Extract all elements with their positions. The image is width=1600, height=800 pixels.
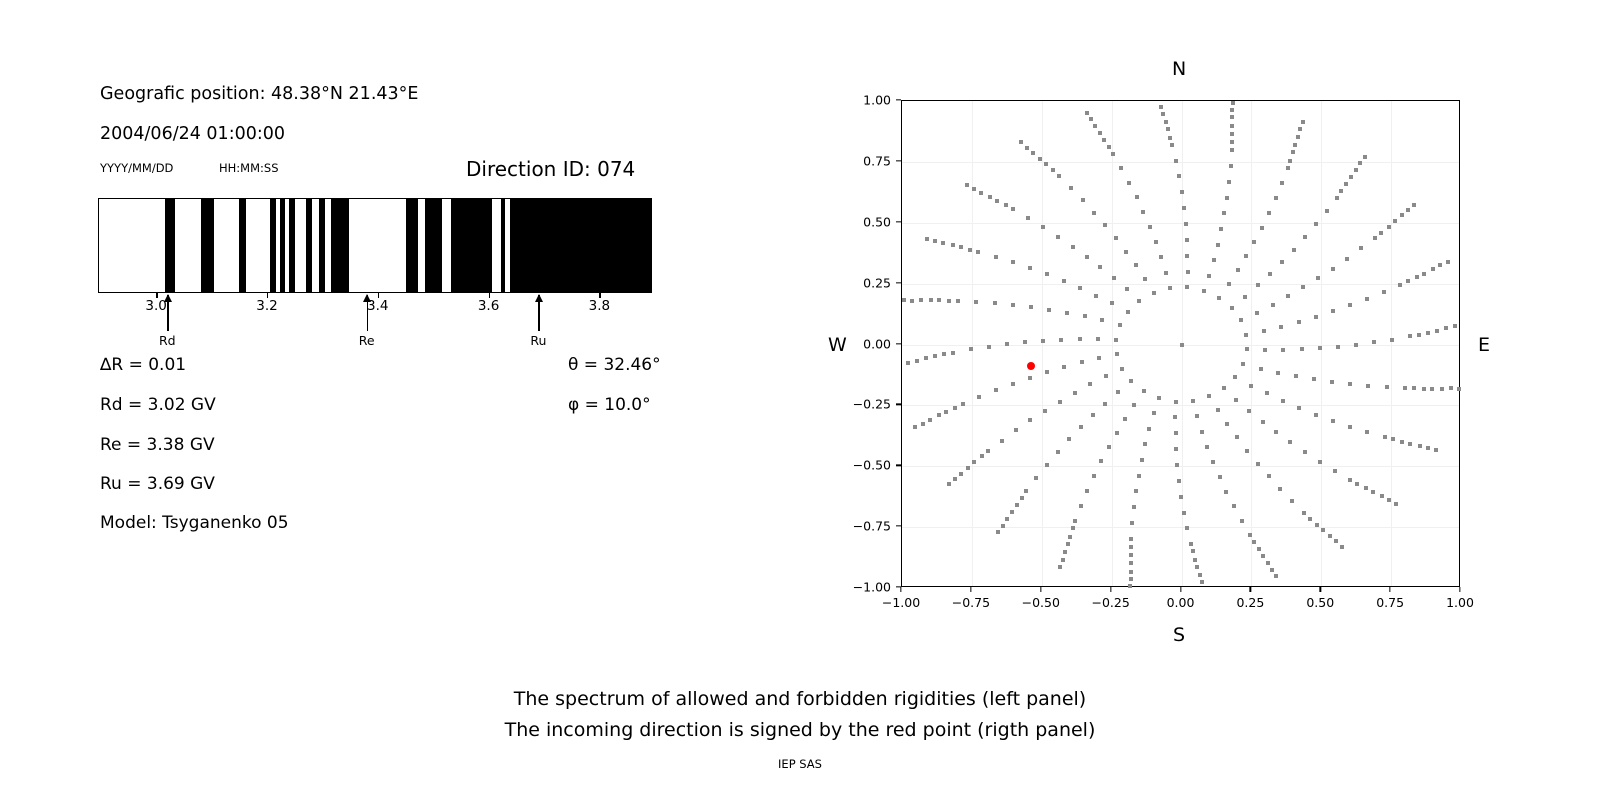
- direction-sample-point: [915, 359, 919, 363]
- direction-sample-point: [1225, 422, 1229, 426]
- direction-sample-point: [1274, 574, 1278, 578]
- direction-sample-point: [1099, 459, 1103, 463]
- gridline-vertical: [1391, 101, 1392, 586]
- direction-sample-point: [1431, 267, 1435, 271]
- direction-sample-point: [1111, 152, 1115, 156]
- direction-sample-point: [1115, 352, 1119, 356]
- direction-sample-point: [1379, 231, 1383, 235]
- direction-sample-point: [1440, 387, 1444, 391]
- direction-sample-point: [1434, 448, 1438, 452]
- direction-sample-point: [1175, 463, 1179, 467]
- direction-sample-point: [977, 395, 981, 399]
- direction-sample-point: [1400, 440, 1404, 444]
- direction-sample-point: [1093, 124, 1097, 128]
- direction-sample-point: [1241, 362, 1245, 366]
- direction-sample-point: [1129, 379, 1133, 383]
- direction-sample-point: [1430, 387, 1434, 391]
- direction-sample-point: [1268, 272, 1272, 276]
- direction-sample-point: [1129, 577, 1133, 581]
- direction-sample-point: [1348, 478, 1352, 482]
- direction-sample-point: [1127, 181, 1131, 185]
- direction-sample-point: [1011, 260, 1015, 264]
- direction-sample-point: [1080, 360, 1084, 364]
- direction-sample-point: [1453, 324, 1457, 328]
- x-axis-tick-mark: [1320, 587, 1321, 592]
- direction-sample-point: [1189, 542, 1193, 546]
- direction-sample-point: [1014, 428, 1018, 432]
- direction-sample-point: [1279, 325, 1283, 329]
- direction-sample-point: [1128, 584, 1132, 588]
- caption-line-1: The spectrum of allowed and forbidden ri…: [0, 688, 1600, 710]
- direction-sample-point: [1143, 442, 1147, 446]
- direction-sample-point: [1043, 409, 1047, 413]
- direction-sample-point: [1110, 301, 1114, 305]
- direction-sample-point: [1385, 385, 1389, 389]
- direction-sample-point: [1293, 143, 1297, 147]
- direction-sample-point: [1058, 565, 1062, 569]
- direction-sample-point: [1406, 208, 1410, 212]
- direction-sample-point: [1280, 181, 1284, 185]
- x-axis-tick-mark: [1250, 587, 1251, 592]
- direction-sample-point: [1132, 403, 1136, 407]
- direction-sample-point: [1412, 386, 1416, 390]
- direction-sample-point: [1308, 517, 1312, 521]
- direction-sample-point: [1365, 297, 1369, 301]
- direction-sample-point: [1103, 402, 1107, 406]
- direction-sample-point: [1056, 235, 1060, 239]
- gridline-horizontal: [902, 527, 1459, 528]
- direction-sample-point: [1303, 235, 1307, 239]
- direction-sample-point: [1091, 413, 1095, 417]
- y-axis-tick-mark: [896, 221, 901, 222]
- direction-sample-point: [980, 454, 984, 458]
- direction-sample-point: [1034, 476, 1038, 480]
- direction-sample-point: [1274, 196, 1278, 200]
- direction-sample-point: [1403, 386, 1407, 390]
- direction-sample-point: [1107, 445, 1111, 449]
- direction-sample-point: [1412, 203, 1416, 207]
- direction-sample-point: [1028, 418, 1032, 422]
- direction-sample-point: [1422, 272, 1426, 276]
- direction-sample-point: [1417, 333, 1421, 337]
- direction-sample-point: [1298, 127, 1302, 131]
- direction-sample-point: [924, 356, 928, 360]
- direction-sample-point: [1286, 294, 1290, 298]
- direction-sample-point: [1219, 227, 1223, 231]
- y-axis-tick-mark: [896, 525, 901, 526]
- y-axis-tick-label: −0.25: [839, 397, 891, 412]
- direction-sample-point: [966, 466, 970, 470]
- direction-sample-point: [959, 245, 963, 249]
- direction-sample-point: [1230, 115, 1234, 119]
- direction-sample-point: [1234, 398, 1238, 402]
- direction-sample-point: [1059, 338, 1063, 342]
- direction-sample-point: [1262, 329, 1266, 333]
- direction-sample-point: [1371, 490, 1375, 494]
- direction-sample-point: [1152, 411, 1156, 415]
- direction-sample-point: [1354, 168, 1358, 172]
- direction-sample-point: [947, 299, 951, 303]
- direction-sample-point: [1107, 145, 1111, 149]
- footer-credit: IEP SAS: [0, 757, 1600, 771]
- direction-sample-point: [1315, 523, 1319, 527]
- direction-sample-point: [1344, 182, 1348, 186]
- direction-sample-point: [1038, 157, 1042, 161]
- direction-sample-point: [1325, 209, 1329, 213]
- direction-sample-point: [1026, 216, 1030, 220]
- direction-sample-point: [1195, 565, 1199, 569]
- direction-sample-point: [1173, 415, 1177, 419]
- direction-sample-point: [1321, 528, 1325, 532]
- direction-sample-point: [1449, 386, 1453, 390]
- direction-sample-point: [1229, 164, 1233, 168]
- direction-sample-point: [1257, 547, 1261, 551]
- direction-sample-point: [1092, 211, 1096, 215]
- direction-sample-point: [1271, 303, 1275, 307]
- direction-sample-point: [1256, 283, 1260, 287]
- direction-sample-point: [1073, 391, 1077, 395]
- direction-sample-point: [1120, 367, 1124, 371]
- direction-sample-point: [1098, 265, 1102, 269]
- direction-sample-point: [1066, 542, 1070, 546]
- gridline-horizontal: [902, 162, 1459, 163]
- direction-sample-point: [1314, 222, 1318, 226]
- direction-sample-point: [1081, 198, 1085, 202]
- direction-sample-point: [1182, 511, 1186, 515]
- direction-sample-point: [987, 345, 991, 349]
- direction-sample-point: [1029, 305, 1033, 309]
- direction-sample-point: [965, 183, 969, 187]
- direction-sample-point: [1025, 146, 1029, 150]
- direction-sample-point: [1230, 124, 1234, 128]
- direction-sample-point: [1174, 400, 1178, 404]
- direction-sample-point: [1387, 498, 1391, 502]
- direction-sample-point: [902, 298, 906, 302]
- direction-sample-point: [1134, 489, 1138, 493]
- direction-sample-point: [1314, 315, 1318, 319]
- direction-sample-point: [1348, 425, 1352, 429]
- direction-sample-point: [1129, 561, 1133, 565]
- direction-sample-point: [1245, 449, 1249, 453]
- direction-sample-point: [1355, 482, 1359, 486]
- direction-sample-point: [1079, 425, 1083, 429]
- direction-sample-point: [1331, 267, 1335, 271]
- x-axis-tick-mark: [1180, 587, 1181, 592]
- compass-north-label: N: [1172, 58, 1186, 80]
- direction-sample-point: [1062, 365, 1066, 369]
- direction-sample-point: [1177, 174, 1181, 178]
- direction-sample-point: [1045, 272, 1049, 276]
- direction-sample-point: [988, 195, 992, 199]
- direction-sample-point: [1068, 535, 1072, 539]
- direction-sample-point: [1140, 458, 1144, 462]
- compass-south-label: S: [1173, 624, 1185, 646]
- direction-sample-point: [1243, 295, 1247, 299]
- direction-sample-point: [1263, 348, 1267, 352]
- direction-sample-point: [1005, 342, 1009, 346]
- direction-sample-point: [1391, 437, 1395, 441]
- direction-sample-point: [1174, 159, 1178, 163]
- direction-sample-point: [1249, 384, 1253, 388]
- direction-sample-point: [1222, 386, 1226, 390]
- direction-sample-point: [951, 243, 955, 247]
- direction-sample-point: [1446, 260, 1450, 264]
- direction-sample-point: [1408, 442, 1412, 446]
- direction-sample-point: [1224, 490, 1228, 494]
- direction-sample-point: [1011, 207, 1015, 211]
- direction-sample-point: [1058, 400, 1062, 404]
- direction-sample-point: [1400, 213, 1404, 217]
- direction-sample-point: [1248, 533, 1252, 537]
- direction-sample-point: [1159, 105, 1163, 109]
- direction-sample-point: [1062, 279, 1066, 283]
- direction-sample-point: [1288, 159, 1292, 163]
- direction-sample-point: [1069, 186, 1073, 190]
- direction-sample-point: [1164, 120, 1168, 124]
- direction-sample-point: [1239, 318, 1243, 322]
- direction-sample-point: [1280, 260, 1284, 264]
- direction-sample-point: [1278, 487, 1282, 491]
- direction-sample-point: [1104, 374, 1108, 378]
- gridline-vertical: [1112, 101, 1113, 586]
- direction-sample-point: [1148, 225, 1152, 229]
- direction-sample-point: [1290, 499, 1294, 503]
- direction-sample-point: [994, 255, 998, 259]
- direction-sample-point: [1118, 323, 1122, 327]
- direction-sample-point: [1100, 318, 1104, 322]
- direction-sample-point: [1276, 371, 1280, 375]
- y-axis-tick-label: 0.25: [839, 275, 891, 290]
- x-axis-tick-label: 0.50: [1306, 595, 1334, 610]
- direction-sample-point: [1137, 299, 1141, 303]
- x-axis-tick-label: −0.25: [1091, 595, 1129, 610]
- direction-sample-point: [1302, 511, 1306, 515]
- direction-sample-point: [1333, 469, 1337, 473]
- direction-sample-point: [1318, 346, 1322, 350]
- direction-sample-point: [1291, 150, 1295, 154]
- direction-sample-point: [1382, 290, 1386, 294]
- direction-sample-point: [1041, 225, 1045, 229]
- direction-sample-point: [1083, 314, 1087, 318]
- direction-sample-point: [1019, 140, 1023, 144]
- direction-sample-point: [1364, 486, 1368, 490]
- direction-sample-point: [1235, 435, 1239, 439]
- x-axis-tick-label: −1.00: [882, 595, 920, 610]
- direction-sample-point: [1102, 138, 1106, 142]
- direction-sample-point: [1406, 279, 1410, 283]
- direction-sample-point: [1267, 474, 1271, 478]
- direction-sample-point: [1348, 303, 1352, 307]
- direction-sample-point: [972, 460, 976, 464]
- direction-sample-point: [1286, 166, 1290, 170]
- y-axis-tick-label: −0.50: [839, 458, 891, 473]
- direction-sample-point: [1233, 375, 1237, 379]
- direction-sample-point: [959, 472, 963, 476]
- direction-sample-point: [1047, 308, 1051, 312]
- gridline-horizontal: [902, 405, 1459, 406]
- direction-sample-point: [1426, 446, 1430, 450]
- direction-sample-point: [1345, 257, 1349, 261]
- direction-sample-point: [1245, 347, 1249, 351]
- direction-sample-point: [1141, 210, 1145, 214]
- direction-sample-point: [1212, 258, 1216, 262]
- direction-sample-point: [1301, 285, 1305, 289]
- x-axis-tick-mark: [970, 587, 971, 592]
- direction-sample-point: [1185, 238, 1189, 242]
- direction-sample-point: [1218, 475, 1222, 479]
- direction-sample-point: [1089, 117, 1093, 121]
- direction-sample-point: [1390, 338, 1394, 342]
- direction-sample-point: [1200, 580, 1204, 584]
- direction-sample-point: [1211, 460, 1215, 464]
- direction-sample-point: [1114, 236, 1118, 240]
- direction-sample-point: [974, 300, 978, 304]
- gridline-vertical: [1321, 101, 1322, 586]
- direction-sample-point: [1457, 387, 1461, 391]
- direction-sample-point: [1216, 243, 1220, 247]
- y-axis-tick-label: −1.00: [839, 580, 891, 595]
- gridline-vertical: [1042, 101, 1043, 586]
- direction-sample-point: [1256, 462, 1260, 466]
- direction-sample-point: [1051, 168, 1055, 172]
- direction-sample-point: [972, 187, 976, 191]
- direction-sample-point: [921, 422, 925, 426]
- direction-sample-point: [1057, 174, 1061, 178]
- direction-sample-point: [1094, 294, 1098, 298]
- direction-sample-point: [1170, 143, 1174, 147]
- direction-sample-point: [1179, 495, 1183, 499]
- direction-sample-point: [910, 299, 914, 303]
- direction-sample-point: [1198, 573, 1202, 577]
- x-axis-tick-label: 1.00: [1446, 595, 1474, 610]
- direction-sample-point: [1071, 245, 1075, 249]
- direction-sample-point: [996, 530, 1000, 534]
- direction-sample-point: [1354, 343, 1358, 347]
- direction-sample-point: [1336, 345, 1340, 349]
- direction-sample-point: [1123, 417, 1127, 421]
- x-axis-tick-mark: [900, 587, 901, 592]
- direction-sample-point: [1349, 175, 1353, 179]
- gridline-horizontal: [902, 223, 1459, 224]
- direction-sample-point: [969, 347, 973, 351]
- x-axis-tick-mark: [1040, 587, 1041, 592]
- direction-sample-point: [968, 248, 972, 252]
- direction-sample-point: [1157, 396, 1161, 400]
- direction-sample-point: [986, 449, 990, 453]
- direction-sample-point: [953, 406, 957, 410]
- direction-sample-point: [1174, 431, 1178, 435]
- direction-sample-point: [1096, 337, 1100, 341]
- direction-sample-point: [951, 351, 955, 355]
- direction-sample-point: [1231, 101, 1235, 105]
- direction-sample-point: [1159, 255, 1163, 259]
- direction-sample-point: [1335, 196, 1339, 200]
- direction-sample-point: [1000, 439, 1004, 443]
- y-axis-tick-label: 0.75: [839, 153, 891, 168]
- direction-sample-point: [1438, 263, 1442, 267]
- direction-sample-point: [1207, 394, 1211, 398]
- direction-sample-point: [1130, 521, 1134, 525]
- direction-sample-point: [1252, 240, 1256, 244]
- direction-sample-point: [1103, 223, 1107, 227]
- direction-sample-point: [1132, 505, 1136, 509]
- direction-sample-point: [1240, 519, 1244, 523]
- direction-sample-point: [1191, 549, 1195, 553]
- direction-sample-point: [1200, 430, 1204, 434]
- direction-sample-point: [1330, 380, 1334, 384]
- direction-sample-point: [913, 425, 917, 429]
- incoming-direction-point: [1027, 362, 1035, 370]
- y-axis-tick-label: 1.00: [839, 93, 891, 108]
- direction-sample-point: [1020, 496, 1024, 500]
- direction-sample-point: [1303, 450, 1307, 454]
- direction-sample-point: [1301, 120, 1305, 124]
- direction-sample-point: [1065, 311, 1069, 315]
- direction-sample-point: [1119, 166, 1123, 170]
- direction-sample-point: [947, 482, 951, 486]
- direction-sample-point: [933, 354, 937, 358]
- direction-sample-point: [1331, 309, 1335, 313]
- direction-sample-point: [1098, 131, 1102, 135]
- direction-sample-point: [1193, 558, 1197, 562]
- direction-sample-point: [1328, 534, 1332, 538]
- direction-sample-point: [1142, 389, 1146, 393]
- direction-sample-point: [1259, 367, 1263, 371]
- y-axis-tick-mark: [896, 282, 901, 283]
- direction-sample-point: [1435, 329, 1439, 333]
- direction-sample-point: [1422, 387, 1426, 391]
- direction-sample-point: [919, 298, 923, 302]
- direction-sample-point: [1031, 151, 1035, 155]
- direction-sample-point: [1225, 196, 1229, 200]
- direction-sample-point: [1444, 326, 1448, 330]
- direction-sample-point: [1125, 287, 1129, 291]
- direction-sample-point: [1236, 268, 1240, 272]
- direction-sample-point: [1195, 414, 1199, 418]
- direction-sample-point: [1143, 277, 1147, 281]
- x-axis-tick-label: 0.00: [1167, 595, 1195, 610]
- y-axis-tick-label: 0.00: [839, 336, 891, 351]
- direction-sample-point: [1270, 568, 1274, 572]
- direction-sample-point: [995, 199, 999, 203]
- direction-sample-point: [1252, 540, 1256, 544]
- direction-sample-point: [1294, 374, 1298, 378]
- direction-sample-point: [1348, 382, 1352, 386]
- direction-sample-point: [1056, 450, 1060, 454]
- direction-sample-point: [1217, 296, 1221, 300]
- direction-sample-point: [1227, 282, 1231, 286]
- direction-sample-point: [1266, 561, 1270, 565]
- direction-sample-point: [1227, 180, 1231, 184]
- direction-sample-point: [1028, 266, 1032, 270]
- direction-sample-point: [994, 388, 998, 392]
- direction-sample-point: [1023, 340, 1027, 344]
- direction-sample-point: [1359, 246, 1363, 250]
- gridline-vertical: [972, 101, 973, 586]
- direction-sample-point: [1073, 519, 1077, 523]
- direction-sample-point: [1166, 127, 1170, 131]
- direction-sample-point: [1316, 276, 1320, 280]
- direction-sample-point: [1415, 275, 1419, 279]
- direction-sample-point: [1028, 376, 1032, 380]
- gridline-horizontal: [902, 284, 1459, 285]
- incoming-direction-panel: N S E W −1.00−0.75−0.50−0.250.000.250.50…: [0, 0, 1600, 660]
- direction-sample-point: [1067, 437, 1071, 441]
- direction-sample-point: [1281, 399, 1285, 403]
- direction-sample-point: [1393, 219, 1397, 223]
- direction-sample-point: [944, 410, 948, 414]
- direction-sample-point: [1152, 291, 1156, 295]
